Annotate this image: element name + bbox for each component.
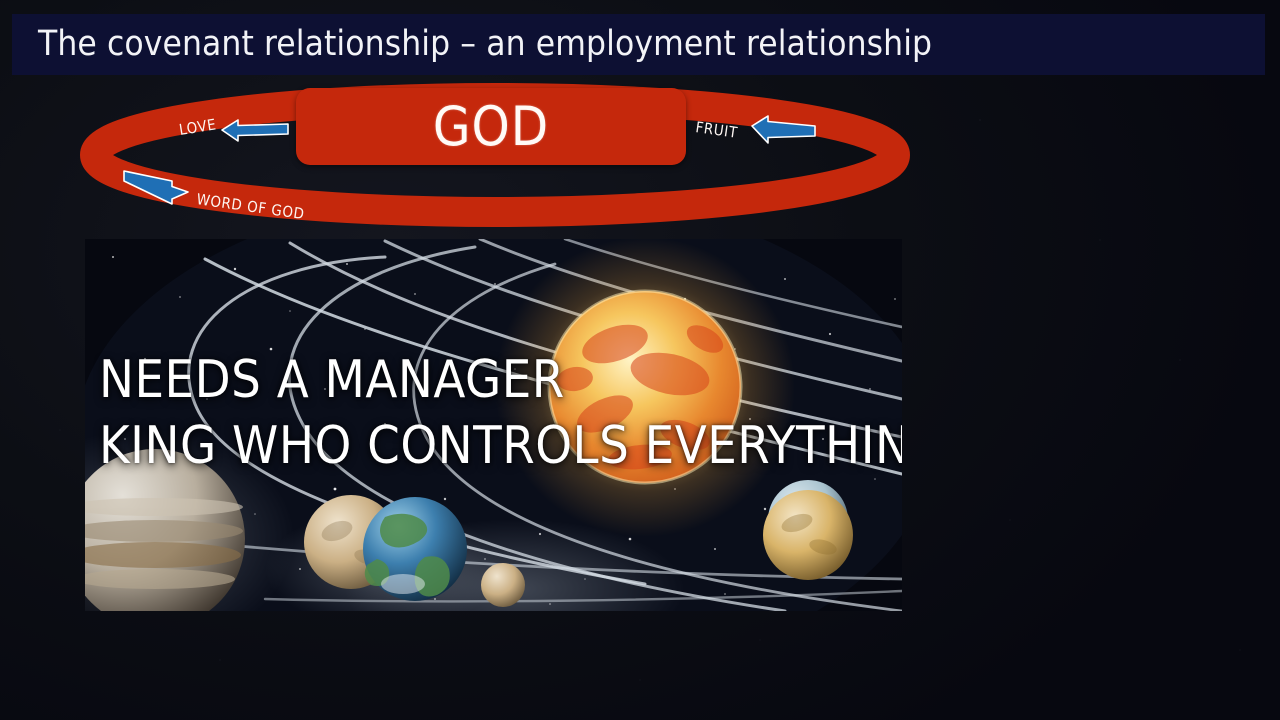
planet-gold-lower-right	[763, 490, 853, 580]
solar-system-image: NEEDS A MANAGER KING WHO CONTROLS EVERYT…	[85, 239, 902, 611]
planet-moon-small	[481, 563, 525, 607]
space-scene	[85, 239, 902, 611]
god-label-box: GOD	[296, 88, 686, 165]
sun	[495, 239, 795, 537]
page-title: The covenant relationship – an employmen…	[38, 24, 932, 64]
planet-earth	[363, 497, 467, 601]
slide-title-bar: The covenant relationship – an employmen…	[12, 14, 1265, 75]
god-text: GOD	[433, 100, 549, 154]
slide-canvas: The covenant relationship – an employmen…	[0, 0, 1280, 720]
